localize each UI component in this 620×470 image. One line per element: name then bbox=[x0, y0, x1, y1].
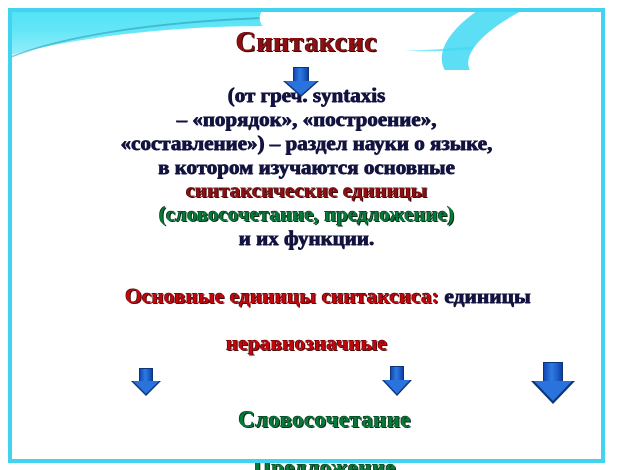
down-arrow-icon-phrase bbox=[131, 368, 161, 398]
definition-block: (от греч. syntaxis – «порядок», «построе… bbox=[14, 85, 599, 250]
arrow-head bbox=[534, 381, 572, 401]
units-statement-navy-word: единицы bbox=[439, 284, 531, 308]
arrow-head bbox=[384, 380, 410, 394]
arrow-head bbox=[285, 81, 317, 95]
bottom-term-phrase: Словосочетание bbox=[238, 407, 411, 432]
down-arrow-icon-text bbox=[531, 362, 575, 406]
definition-line-7: и их функции. bbox=[14, 228, 599, 250]
down-arrow-icon-title bbox=[283, 67, 319, 97]
units-statement-line-2: неравнозначные bbox=[14, 332, 599, 354]
definition-line-5-syntactic-units: синтаксические единицы bbox=[14, 180, 599, 202]
slide-title: Синтаксис bbox=[14, 28, 599, 57]
bottom-term-sentence: Предложение bbox=[253, 455, 396, 470]
units-statement-block: Основные единицы синтаксиса: единицы нер… bbox=[14, 263, 599, 354]
definition-line-2: – «порядок», «построение», bbox=[14, 109, 599, 131]
bottom-terms-row: Словосочетание Предложение Текст bbox=[14, 384, 599, 470]
definition-line-3: «составление») – раздел науки о языке, bbox=[14, 133, 599, 155]
arrow-head bbox=[133, 381, 159, 394]
presentation-slide: Синтаксис (от греч. syntaxis – «порядок»… bbox=[0, 0, 620, 470]
down-arrow-icon-sentence bbox=[382, 366, 412, 398]
units-statement-label: Основные единицы синтаксиса: bbox=[125, 284, 439, 308]
definition-line-4: в котором изучаются основные bbox=[14, 157, 599, 179]
bottom-term-spacer-1 bbox=[319, 431, 331, 456]
units-statement-line-1: Основные единицы синтаксиса: единицы bbox=[14, 263, 599, 330]
definition-line-6-examples: (словосочетание, предложение) bbox=[14, 204, 599, 226]
